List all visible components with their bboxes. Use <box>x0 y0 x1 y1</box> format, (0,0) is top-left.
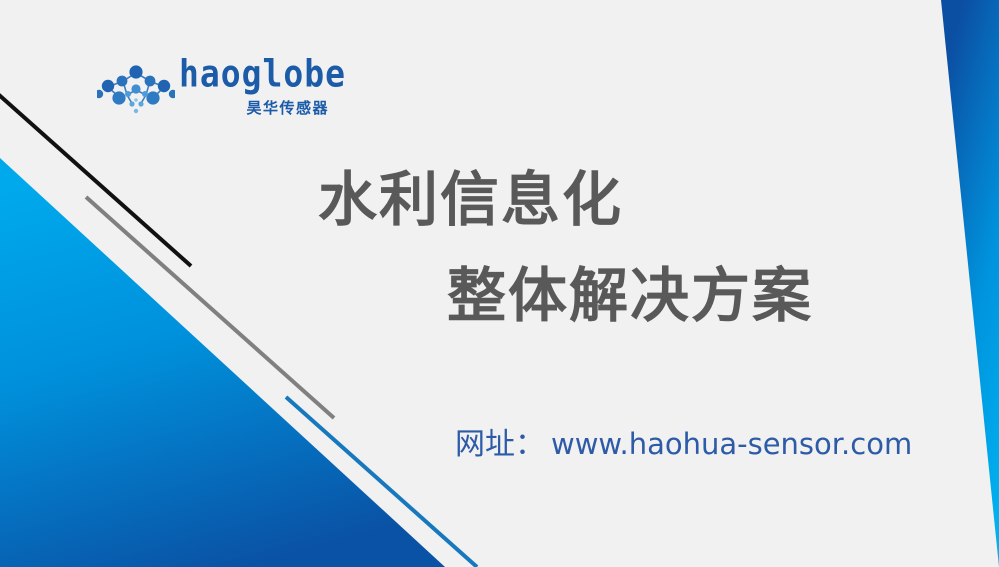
slide-title-line-1: 水利信息化 <box>318 166 623 234</box>
website-label: 网址： <box>455 419 545 463</box>
logo-wordmark: haoglobe <box>179 55 329 92</box>
logo-subtext: 昊华传感器 <box>246 97 329 118</box>
presentation-slide: haoglobe 昊华传感器 水利信息化 整体解决方案 网址： www.haoh… <box>0 0 999 567</box>
website-row: 网址： www.haohua-sensor.com <box>455 419 912 463</box>
website-url[interactable]: www.haohua-sensor.com <box>551 427 912 461</box>
slide-title-line-2: 整体解决方案 <box>447 262 813 330</box>
company-logo[interactable]: haoglobe 昊华传感器 <box>97 55 327 123</box>
logo-text-group: haoglobe 昊华传感器 <box>179 55 329 119</box>
molecular-network-icon <box>97 59 175 119</box>
